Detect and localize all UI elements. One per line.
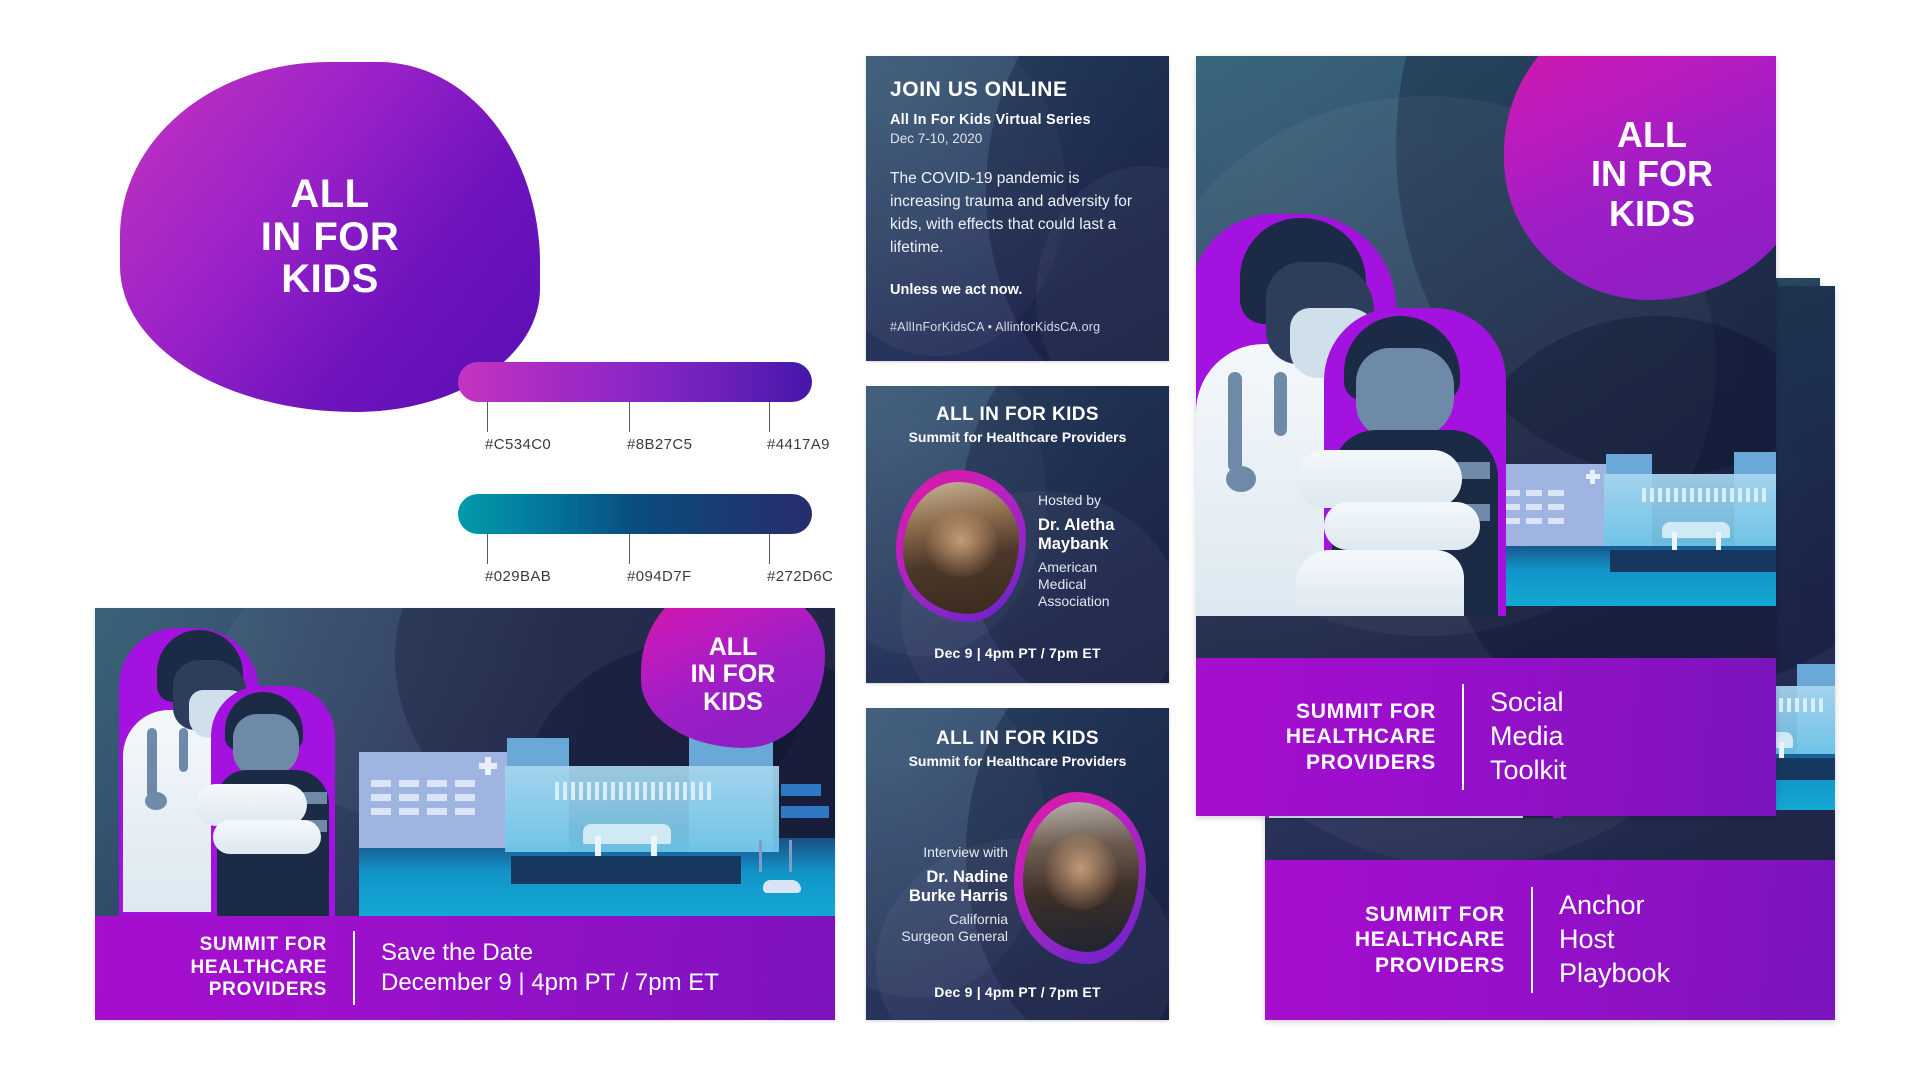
lamp-post [789, 840, 792, 872]
logo-line-1: ALL [691, 634, 776, 662]
stethoscope-bell [1226, 466, 1256, 492]
hospital-illustration [1496, 446, 1776, 606]
window [1548, 518, 1564, 524]
doctor-vaccinating-child-illustration: ALL IN FOR KIDS [95, 608, 835, 916]
detail-line-2: December 9 | 4pm PT / 7pm ET [381, 968, 719, 998]
speaker-card-subtitle: Summit for Healthcare Providers [866, 753, 1169, 769]
speaker-name-line-1: Dr. Aletha [1038, 516, 1158, 535]
join-card-footer: #AllInForKidsCA • AllinforKidsCA.org [890, 320, 1145, 334]
summit-lockup: SUMMIT FOR HEALTHCARE PROVIDERS [1236, 699, 1436, 775]
logo-text: ALL IN FOR KIDS [261, 173, 400, 300]
speaker-name-line-1: Dr. Nadine [880, 868, 1008, 887]
summit-line-3: PROVIDERS [1236, 750, 1436, 775]
stethoscope-bell [145, 792, 167, 810]
child-arm [1324, 502, 1480, 550]
window [427, 794, 447, 801]
join-us-online-card: JOIN US ONLINE All In For Kids Virtual S… [866, 56, 1169, 361]
summit-line-1: SUMMIT FOR [133, 934, 327, 957]
swatch-tick: #C534C0 [486, 402, 488, 432]
speaker-role-label: Hosted by [1038, 492, 1158, 508]
gloved-hands [1296, 450, 1462, 508]
detail-line-3: Toolkit [1490, 754, 1567, 788]
speaker-org-line-3: Association [1038, 593, 1158, 610]
speaker-card-maybank: ALL IN FOR KIDS Summit for Healthcare Pr… [866, 386, 1169, 683]
window [399, 780, 419, 787]
speaker-card-content: ALL IN FOR KIDS Summit for Healthcare Pr… [866, 708, 1169, 1020]
window [399, 808, 419, 815]
summit-line-2: HEALTHCARE [1236, 724, 1436, 749]
window [455, 808, 475, 815]
hospital-plaza [511, 856, 741, 884]
save-the-date-banner: ALL IN FOR KIDS SUMMIT FOR HEALTHCARE PR… [95, 608, 835, 1020]
logo-line-2: IN FOR [1591, 154, 1713, 194]
doctor-and-child-figures [1196, 214, 1536, 616]
cross-icon [485, 757, 491, 775]
divider [1462, 684, 1464, 790]
cross-icon [1590, 470, 1595, 484]
swatch-tick: #272D6C [768, 534, 770, 564]
tick-line [629, 534, 630, 564]
window [455, 780, 475, 787]
speaker-card-date: Dec 9 | 4pm PT / 7pm ET [866, 984, 1169, 1000]
logo-text: ALL IN FOR KIDS [691, 612, 776, 717]
logo-line-2: IN FOR [261, 216, 400, 258]
hex-label: #094D7F [627, 568, 692, 585]
tick-line [769, 534, 770, 564]
tick-line [769, 402, 770, 432]
stethoscope [1228, 372, 1242, 472]
teal-gradient-bar [458, 494, 812, 534]
swatch-tick: #8B27C5 [628, 402, 630, 432]
window [455, 794, 475, 801]
poster-social-media-toolkit: ALL IN FOR KIDS [1196, 56, 1776, 816]
child-face [233, 714, 299, 776]
logo-line-2: IN FOR [691, 661, 776, 689]
teal-color-swatch: #029BAB #094D7F #272D6C [458, 494, 812, 596]
logo-line-3: KIDS [691, 689, 776, 717]
window [399, 794, 419, 801]
logo-line-3: KIDS [1591, 194, 1713, 234]
hex-label: #272D6C [767, 568, 833, 585]
detail-line-2: Host [1559, 923, 1670, 957]
all-in-for-kids-logo: ALL IN FOR KIDS [120, 62, 540, 412]
hex-label: #029BAB [485, 568, 551, 585]
hospital-far-block [781, 806, 829, 818]
child-face [1356, 348, 1454, 438]
speaker-org-line-1: California [880, 911, 1008, 928]
poster-detail: Social Media Toolkit [1490, 686, 1567, 787]
avatar [1014, 792, 1146, 964]
summit-lockup: SUMMIT FOR HEALTHCARE PROVIDERS [133, 934, 327, 1002]
hospital-illustration [359, 728, 835, 916]
banner-detail: Save the Date December 9 | 4pm PT / 7pm … [381, 938, 719, 998]
speaker-card-title: ALL IN FOR KIDS [866, 728, 1169, 750]
speaker-org-line-2: Medical [1038, 576, 1158, 593]
lamp-post [759, 840, 762, 872]
detail-line-2: Media [1490, 720, 1567, 754]
speaker-name-line-2: Burke Harris [880, 887, 1008, 906]
avatar [896, 470, 1026, 622]
summit-line-1: SUMMIT FOR [1305, 902, 1505, 927]
portrait-nadine-burke-harris [1023, 802, 1139, 952]
purple-swatch-ticks: #C534C0 #8B27C5 #4417A9 [458, 402, 812, 464]
hospital-plaza [1610, 550, 1776, 572]
logo-line-3: KIDS [261, 258, 400, 300]
stethoscope [1274, 372, 1287, 436]
window [427, 780, 447, 787]
window [427, 808, 447, 815]
banner-footer-bar: SUMMIT FOR HEALTHCARE PROVIDERS Save the… [95, 916, 835, 1020]
hex-label: #8B27C5 [627, 436, 692, 453]
join-card-cta: Unless we act now. [890, 282, 1145, 298]
join-card-body: The COVID-19 pandemic is increasing trau… [890, 168, 1145, 260]
summit-line-2: HEALTHCARE [1305, 927, 1505, 952]
logo-line-1: ALL [1591, 115, 1713, 155]
speaker-org-line-2: Surgeon General [880, 928, 1008, 945]
hospital-louvers [555, 782, 715, 800]
speaker-name-line-2: Maybank [1038, 535, 1158, 554]
car [763, 880, 801, 893]
detail-line-1: Anchor [1559, 889, 1670, 923]
window [1548, 490, 1564, 496]
speaker-role-label: Interview with [880, 844, 1008, 860]
swatch-tick: #094D7F [628, 534, 630, 564]
summit-line-2: HEALTHCARE [133, 957, 327, 980]
poster-detail: Anchor Host Playbook [1559, 889, 1670, 990]
summit-line-3: PROVIDERS [133, 979, 327, 1002]
window [371, 780, 391, 787]
tick-line [629, 402, 630, 432]
logo-line-1: ALL [261, 173, 400, 215]
tick-line [487, 534, 488, 564]
hospital-far-block [781, 784, 821, 796]
window [371, 808, 391, 815]
logo-text: ALL IN FOR KIDS [1591, 67, 1727, 234]
stethoscope [179, 728, 188, 772]
hex-label: #C534C0 [485, 436, 551, 453]
hex-label: #4417A9 [767, 436, 830, 453]
poster-footer-bar: SUMMIT FOR HEALTHCARE PROVIDERS Social M… [1196, 658, 1776, 816]
hospital-louvers [1642, 488, 1766, 502]
swatch-tick: #4417A9 [768, 402, 770, 432]
summit-lockup: SUMMIT FOR HEALTHCARE PROVIDERS [1305, 902, 1505, 978]
speaker-org-line-1: American [1038, 559, 1158, 576]
swatch-tick: #029BAB [486, 534, 488, 564]
join-card-subtitle: All In For Kids Virtual Series [890, 112, 1145, 128]
detail-line-1: Save the Date [381, 938, 719, 968]
join-card-date: Dec 7-10, 2020 [890, 131, 1145, 146]
speaker-card-title: ALL IN FOR KIDS [866, 404, 1169, 426]
doctor-and-child-figures [117, 624, 367, 916]
summit-line-1: SUMMIT FOR [1236, 699, 1436, 724]
design-showcase-canvas: ALL IN FOR KIDS #C534C0 #8B27C5 #4417A9 [0, 0, 1920, 1080]
speaker-card-content: ALL IN FOR KIDS Summit for Healthcare Pr… [866, 386, 1169, 683]
window [1548, 504, 1564, 510]
stethoscope [147, 728, 157, 798]
child-arm [213, 820, 321, 854]
join-card-title: JOIN US ONLINE [890, 78, 1145, 102]
portrait-aletha-maybank [903, 482, 1019, 614]
poster-footer-bar: SUMMIT FOR HEALTHCARE PROVIDERS Anchor H… [1265, 860, 1835, 1020]
child-lower [1296, 550, 1464, 616]
teal-swatch-ticks: #029BAB #094D7F #272D6C [458, 534, 812, 596]
tick-line [487, 402, 488, 432]
detail-line-3: Playbook [1559, 957, 1670, 991]
speaker-card-burke-harris: ALL IN FOR KIDS Summit for Healthcare Pr… [866, 708, 1169, 1020]
summit-line-3: PROVIDERS [1305, 953, 1505, 978]
speaker-card-subtitle: Summit for Healthcare Providers [866, 429, 1169, 445]
purple-color-swatch: #C534C0 #8B27C5 #4417A9 [458, 362, 812, 464]
divider [353, 931, 355, 1005]
purple-gradient-bar [458, 362, 812, 402]
speaker-card-date: Dec 9 | 4pm PT / 7pm ET [866, 645, 1169, 661]
divider [1531, 887, 1533, 993]
window [371, 794, 391, 801]
detail-line-1: Social [1490, 686, 1567, 720]
join-card-content: JOIN US ONLINE All In For Kids Virtual S… [866, 56, 1169, 361]
